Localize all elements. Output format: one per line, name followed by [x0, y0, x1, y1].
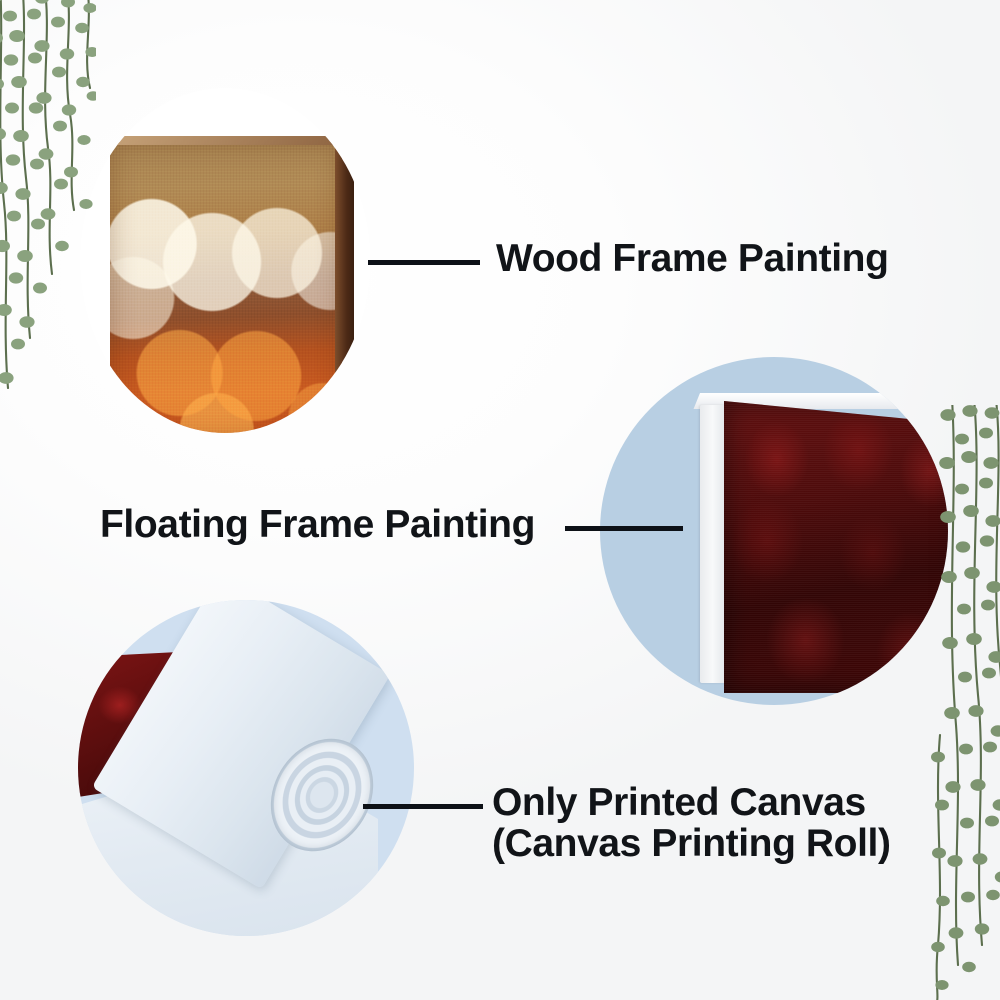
canvas-grain-texture [724, 401, 948, 693]
leader-line-printed-canvas [363, 804, 483, 809]
leader-line-wood-frame [368, 260, 480, 265]
product-circle-floating-frame [600, 357, 948, 705]
wood-frame-side-edge [335, 146, 354, 433]
canvas-grain-texture [110, 142, 342, 433]
label-wood-frame-painting: Wood Frame Painting [496, 238, 889, 279]
floating-frame-artwork [724, 401, 948, 693]
floating-frame-left-rail [700, 405, 728, 683]
wood-frame-top-edge [106, 136, 354, 145]
leader-line-floating-frame [565, 526, 683, 531]
wood-frame-artwork [110, 142, 342, 433]
label-only-printed-canvas: Only Printed Canvas (Canvas Printing Rol… [492, 782, 891, 865]
product-circle-printed-canvas [78, 600, 414, 936]
product-circle-wood-frame [80, 88, 370, 433]
infographic-stage: Wood Frame Painting Floating Frame Paint… [0, 0, 1000, 1000]
label-floating-frame-painting: Floating Frame Painting [100, 504, 535, 545]
